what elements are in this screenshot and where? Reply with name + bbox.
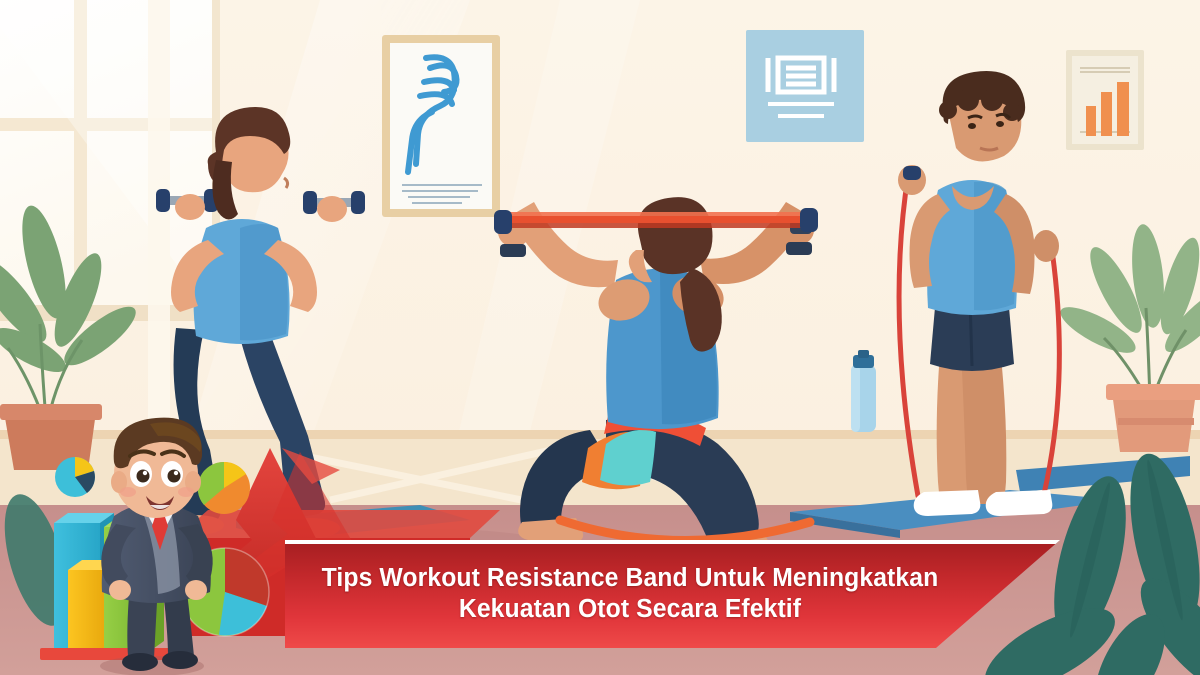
- man-right-shoe: [986, 490, 1053, 516]
- pie-mid: [198, 462, 250, 514]
- banner-title: Tips Workout Resistance Band Untuk Menin…: [295, 540, 964, 648]
- woman2-hair: [638, 197, 713, 274]
- banner-title-line-2: Kekuatan Otot Secara Efektif: [459, 594, 801, 625]
- man-right-hand: [1033, 230, 1059, 262]
- man-left-shoe: [914, 490, 981, 516]
- framed-bar-chart-poster: [1066, 50, 1144, 150]
- band-handle-left: [903, 166, 921, 180]
- title-banner: Tips Workout Resistance Band Untuk Menin…: [285, 540, 1060, 648]
- water-bottle: [851, 350, 876, 432]
- framed-exercise-poster: [382, 35, 500, 217]
- banner-title-line-1: Tips Workout Resistance Band Untuk Menin…: [322, 563, 939, 594]
- poster-canvas: Tips Workout Resistance Band Untuk Menin…: [0, 0, 1200, 675]
- pie-small-top: [55, 457, 95, 497]
- blue-square-poster: [746, 30, 864, 142]
